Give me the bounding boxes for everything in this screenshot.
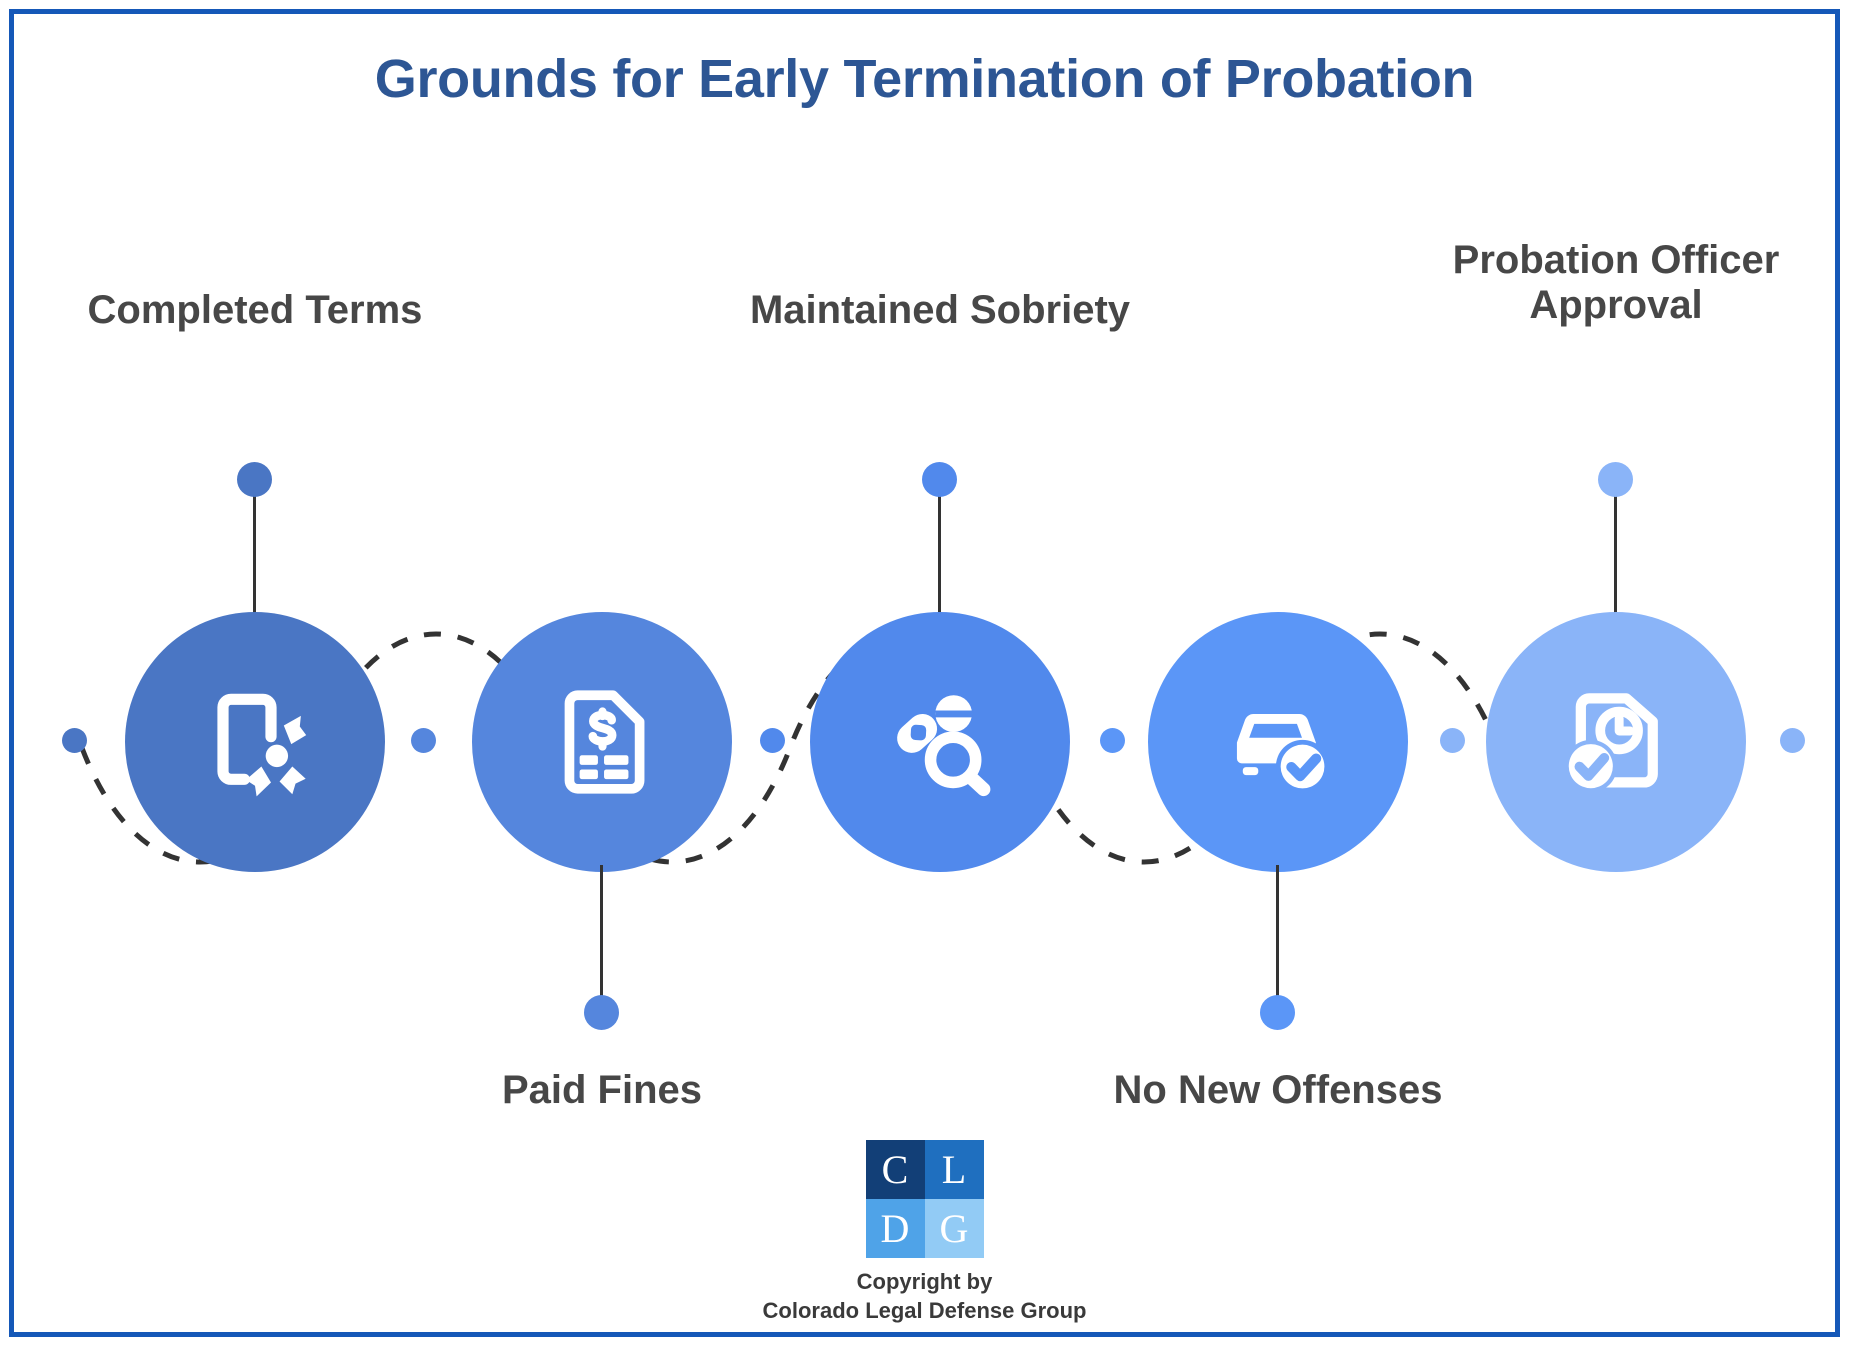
stem-node-4 <box>1276 865 1279 1000</box>
car-check-icon <box>1214 678 1342 806</box>
logo-cell-d: D <box>866 1199 925 1258</box>
copyright-block: Copyright by Colorado Legal Defense Grou… <box>0 1267 1849 1325</box>
copyright-line-2: Colorado Legal Defense Group <box>0 1296 1849 1325</box>
stem-dot-node-3 <box>922 462 957 497</box>
logo-letter: C <box>882 1146 909 1193</box>
label-text: No New Offenses <box>1114 1068 1443 1112</box>
cldg-logo: C L D G <box>866 1140 984 1258</box>
stem-dot-node-2 <box>584 995 619 1030</box>
stem-dot-node-1 <box>237 462 272 497</box>
node-no-new-offenses[interactable] <box>1148 612 1408 872</box>
footer: C L D G Copyright by Colorado Legal Defe… <box>0 1140 1849 1325</box>
logo-letter: L <box>942 1146 966 1193</box>
label-text-line-1: Probation Officer <box>1386 238 1846 283</box>
wave-joint-dot-2 <box>760 728 785 753</box>
wave-endpoint-dot-left <box>62 728 87 753</box>
label-no-new-offenses: No New Offenses <box>1038 1068 1518 1113</box>
process-diagram: Completed Terms Paid Fines <box>0 0 1849 1150</box>
copyright-line-1: Copyright by <box>0 1267 1849 1296</box>
node-completed-terms[interactable] <box>125 612 385 872</box>
certificate-award-icon <box>191 678 319 806</box>
label-completed-terms: Completed Terms <box>15 288 495 333</box>
label-text: Paid Fines <box>502 1068 702 1112</box>
logo-letter: D <box>881 1205 910 1252</box>
invoice-dollar-icon <box>541 681 663 803</box>
node-maintained-sobriety[interactable] <box>810 612 1070 872</box>
logo-cell-g: G <box>925 1199 984 1258</box>
document-clock-check-icon <box>1553 679 1679 805</box>
label-paid-fines: Paid Fines <box>362 1068 842 1113</box>
stem-dot-node-5 <box>1598 462 1633 497</box>
infographic-canvas: Grounds for Early Termination of Probati… <box>0 0 1849 1346</box>
stem-dot-node-4 <box>1260 995 1295 1030</box>
node-probation-officer-approval[interactable] <box>1486 612 1746 872</box>
stem-node-1 <box>253 487 256 622</box>
dashed-wave-connector <box>0 0 1849 1150</box>
logo-cell-c: C <box>866 1140 925 1199</box>
pills-magnifier-icon <box>877 679 1003 805</box>
stem-node-3 <box>938 487 941 622</box>
stem-node-5 <box>1614 487 1617 622</box>
logo-cell-l: L <box>925 1140 984 1199</box>
logo-letter: G <box>940 1205 969 1252</box>
stem-node-2 <box>600 865 603 1000</box>
wave-endpoint-dot-right <box>1780 728 1805 753</box>
wave-joint-dot-1 <box>411 728 436 753</box>
label-maintained-sobriety: Maintained Sobriety <box>700 288 1180 333</box>
wave-joint-dot-4 <box>1440 728 1465 753</box>
label-text: Completed Terms <box>88 288 423 332</box>
label-text-line-2: Approval <box>1386 283 1846 328</box>
wave-joint-dot-3 <box>1100 728 1125 753</box>
node-paid-fines[interactable] <box>472 612 732 872</box>
label-text: Maintained Sobriety <box>750 288 1130 332</box>
label-probation-officer-approval: Probation Officer Approval <box>1386 238 1846 328</box>
